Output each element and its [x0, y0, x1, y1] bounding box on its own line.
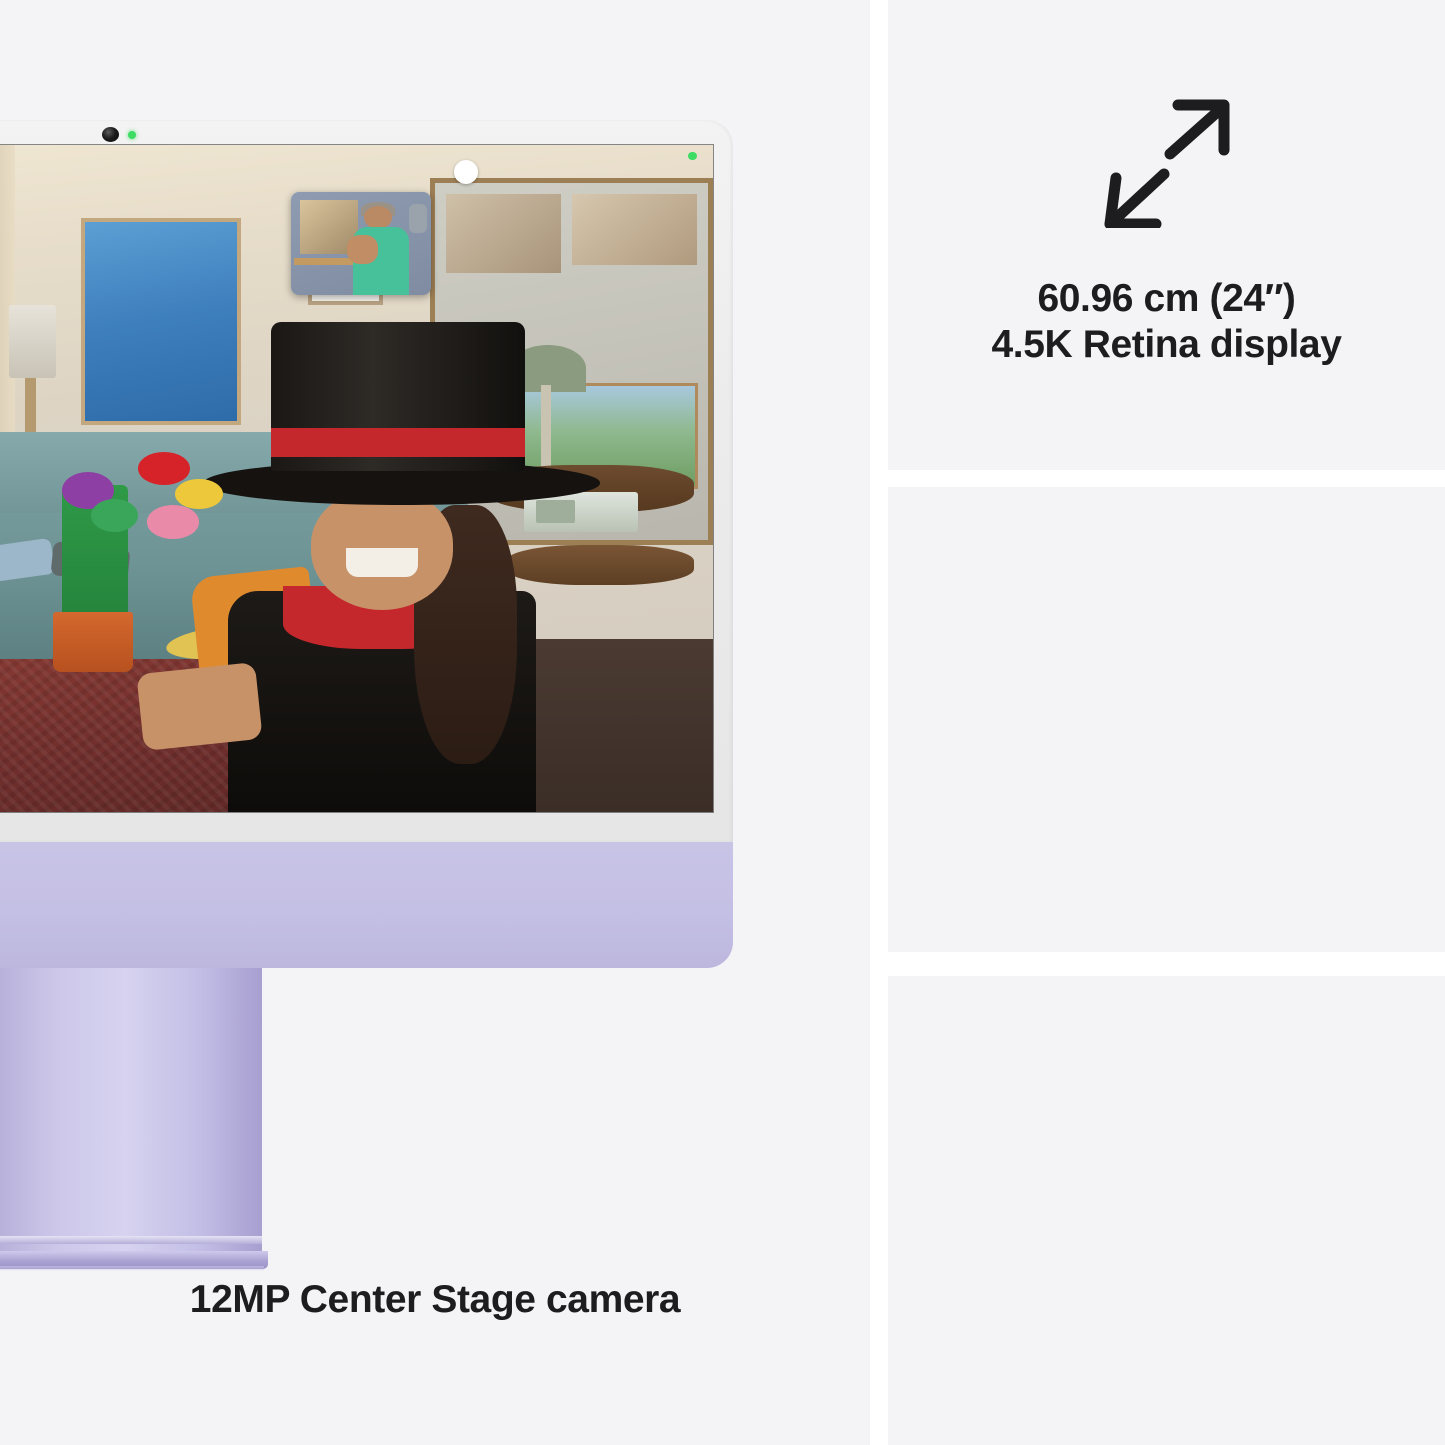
camera-feature-label: 12MP Center Stage camera	[0, 1278, 870, 1322]
room-floor-lamp-shade	[9, 305, 56, 378]
imac-bezel	[0, 120, 733, 842]
flower-yellow	[175, 479, 222, 509]
call-participant-child	[204, 332, 600, 812]
panel-display: 60.96 cm (24″) 4.5K Retina display	[888, 0, 1445, 470]
imac-stand-neck	[0, 968, 262, 1258]
mirror-reflection-art-1	[446, 194, 561, 273]
imac-stand-shadow	[0, 1266, 264, 1271]
camera-lens-icon	[102, 127, 119, 142]
top-hat-red-band	[271, 428, 524, 457]
panel-speakers: Six speakers with Spatial Audio	[888, 976, 1445, 1445]
picture-in-picture-participant[interactable]	[291, 192, 431, 295]
child-smile	[346, 548, 417, 577]
imac-chin	[0, 842, 733, 968]
diagonal-resize-arrows-icon	[1092, 92, 1242, 232]
flower-pot	[53, 612, 133, 672]
flower-pink	[147, 505, 199, 538]
pip-person-hands	[347, 235, 378, 264]
display-feature-label: 60.96 cm (24″) 4.5K Retina display	[991, 276, 1341, 368]
screen-control-button[interactable]	[454, 160, 479, 184]
facetime-call-scene	[0, 145, 713, 812]
pip-person-head	[364, 206, 392, 229]
flower-red	[138, 452, 190, 485]
feature-display: 60.96 cm (24″) 4.5K Retina display	[888, 92, 1445, 368]
imac-screen	[0, 145, 713, 812]
screen-green-indicator-icon	[688, 152, 696, 160]
panel-mics: Studio-quality mics	[888, 487, 1445, 952]
green-status-dot-icon	[128, 131, 136, 139]
child-arm	[137, 662, 263, 751]
flower-green	[91, 499, 138, 532]
sofa-pillow-blue	[0, 537, 54, 583]
panel-camera: 12MP Center Stage camera	[0, 0, 870, 1445]
product-feature-grid: 12MP Center Stage camera 60.96 cm (24″) …	[0, 0, 1445, 1445]
mirror-reflection-art-2	[572, 194, 698, 265]
imac-device	[0, 120, 733, 1170]
pip-lamp	[409, 204, 427, 233]
